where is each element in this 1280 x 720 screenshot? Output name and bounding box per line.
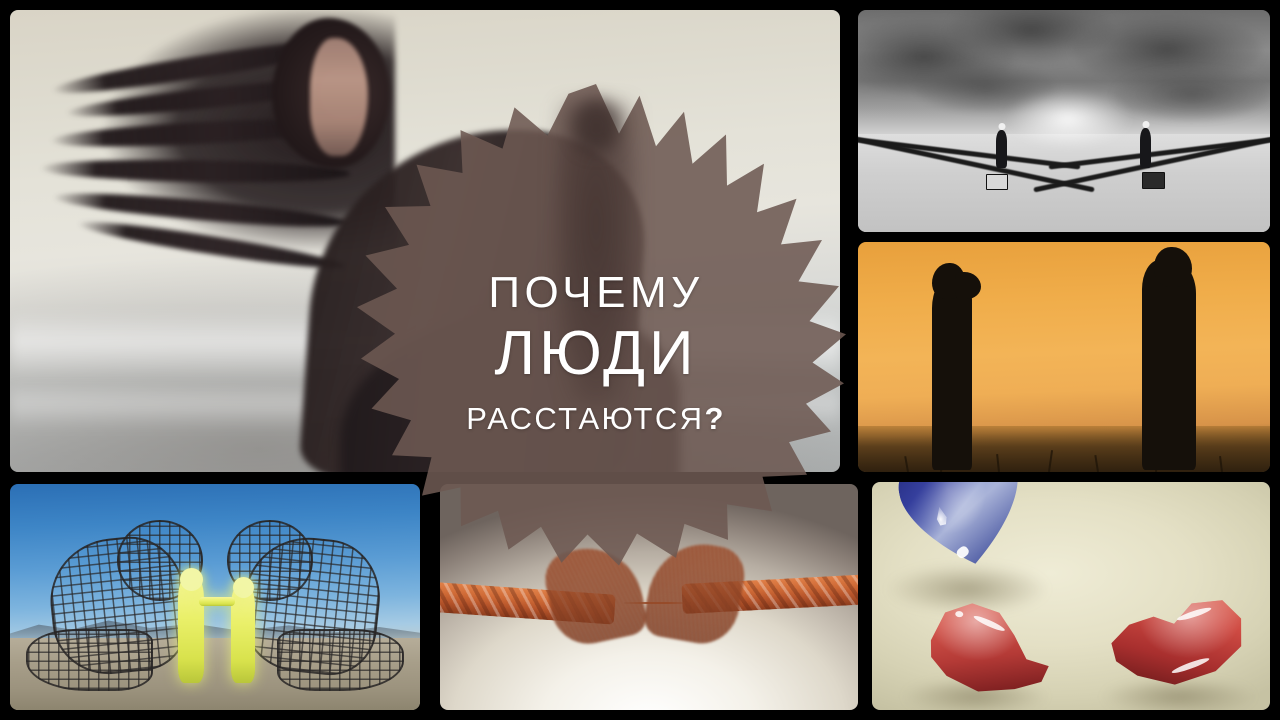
photo-broken-glass-hearts: [872, 482, 1270, 710]
wire-figure-left-legs: [26, 629, 153, 692]
title-line-1: ПОЧЕМУ: [346, 269, 846, 317]
silhouette-woman-body: [932, 277, 972, 470]
horizon-glow: [1006, 90, 1130, 148]
glass-heart-red-left-piece: [922, 592, 1062, 701]
title-line-3: РАССТАЮТСЯ?: [346, 402, 846, 436]
suitcase-right: [1142, 172, 1165, 189]
photo-couple-silhouette-sunset: [858, 242, 1270, 472]
title-line-2: ЛЮДИ: [346, 320, 846, 388]
title-line-3-text: РАССТАЮТСЯ: [466, 401, 704, 436]
glowing-inner-child-right-head: [233, 577, 254, 598]
glowing-inner-child-right: [231, 583, 255, 682]
starburst-badge[interactable]: ПОЧЕМУ ЛЮДИ РАССТАЮТСЯ?: [346, 84, 846, 570]
photo-tile-crossroads[interactable]: [858, 10, 1270, 232]
glass-heart-red-right-piece: [1102, 589, 1251, 695]
heart-red-left-body: [922, 592, 1062, 701]
glowing-inner-child-left: [178, 574, 204, 682]
wire-figure-right-legs: [277, 629, 404, 692]
glowing-inner-children-hands: [199, 597, 235, 606]
photo-tile-couple-sunset[interactable]: [858, 242, 1270, 472]
person-right: [1140, 128, 1151, 168]
silhouette-woman-hair: [955, 272, 981, 299]
badge-text-stack: ПОЧЕМУ ЛЮДИ РАССТАЮТСЯ?: [346, 269, 846, 437]
person-left: [996, 130, 1007, 168]
thumbnail-canvas: ПОЧЕМУ ЛЮДИ РАССТАЮТСЯ?: [0, 0, 1280, 720]
silhouette-man-head: [1154, 247, 1192, 287]
grass-field: [858, 426, 1270, 472]
photo-tile-broken-hearts[interactable]: [872, 482, 1270, 710]
suitcase-left: [986, 174, 1008, 190]
silhouette-man-body: [1142, 260, 1196, 469]
glowing-inner-child-left-head: [180, 568, 203, 591]
cloud: [1113, 68, 1270, 121]
standing-person-silhouette-head: [574, 99, 619, 152]
heart-red-right-body: [1102, 589, 1251, 695]
question-mark: ?: [704, 401, 725, 436]
rope-last-thread: [624, 602, 691, 604]
photo-crossroads-two-people: [858, 10, 1270, 232]
